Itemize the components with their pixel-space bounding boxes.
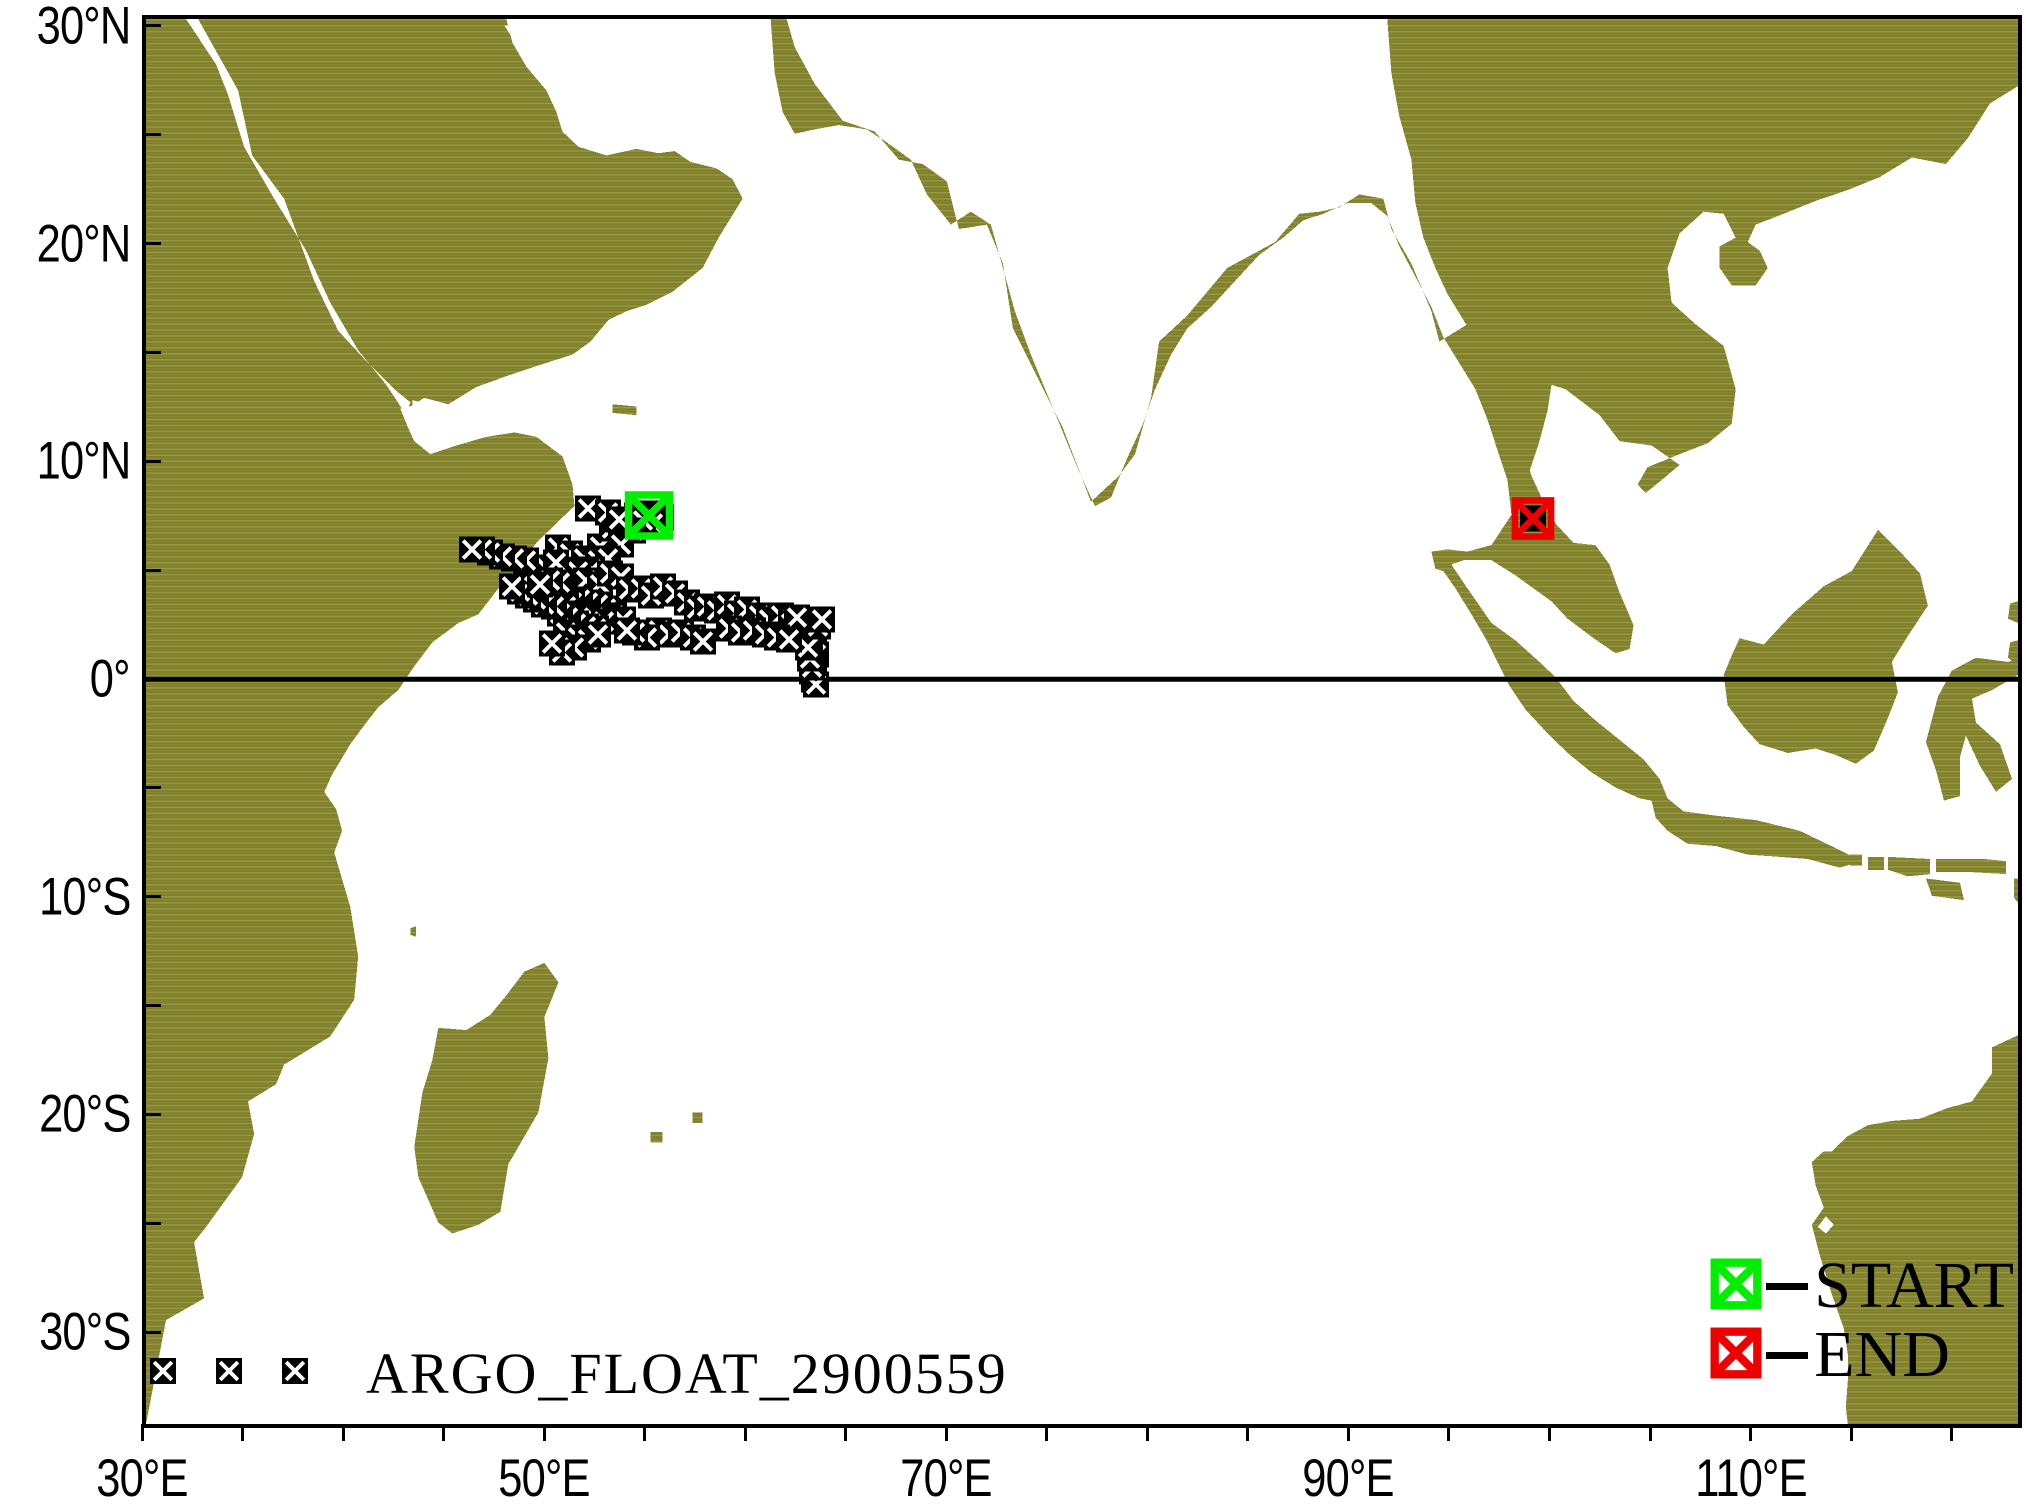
- y-axis-tick-label: 20°N: [36, 213, 130, 274]
- y-axis-tick-label: 10°S: [39, 866, 130, 927]
- argo-float-position-marker: [690, 628, 716, 659]
- x-axis-tick-label: 110°E: [1695, 1448, 1807, 1509]
- map-plot-area: [142, 15, 2022, 1428]
- x-axis-tick: [1749, 1424, 1752, 1441]
- x-axis-tick-label: 90°E: [1303, 1448, 1394, 1509]
- x-axis-tick: [844, 1424, 847, 1441]
- y-axis-tick-label: 0°: [90, 649, 130, 710]
- argo-float-position-marker: [776, 626, 802, 657]
- x-axis-tick: [1246, 1424, 1249, 1441]
- x-axis-tick: [1045, 1424, 1048, 1441]
- argo-float-position-marker: [809, 607, 835, 638]
- y-axis-tick: [144, 133, 161, 136]
- end-marker-icon: [1710, 1327, 1762, 1384]
- x-axis-tick: [141, 1424, 144, 1441]
- x-axis-tick: [1850, 1424, 1853, 1441]
- x-axis-tick-label: 50°E: [498, 1448, 589, 1509]
- y-axis-tick: [144, 460, 161, 463]
- y-axis-tick: [144, 24, 161, 27]
- legend-start-label: START: [1814, 1255, 2014, 1318]
- y-axis-tick: [144, 1113, 161, 1116]
- x-axis-tick-label: 70°E: [901, 1448, 992, 1509]
- legend-end-label: END: [1814, 1324, 1950, 1387]
- argo-float-position-marker: [539, 631, 565, 662]
- legend-dash: [1766, 1283, 1808, 1290]
- legend-dash: [1766, 1352, 1808, 1359]
- y-axis-tick: [144, 242, 161, 245]
- x-axis-tick: [1649, 1424, 1652, 1441]
- float-legend: ARGO_FLOAT_2900559: [150, 1340, 1008, 1407]
- y-axis-tick-label: 10°N: [36, 431, 130, 492]
- legend-start-row: START: [1710, 1255, 2014, 1318]
- y-axis-tick: [144, 1004, 161, 1007]
- x-axis-tick: [342, 1424, 345, 1441]
- float-legend-label: ARGO_FLOAT_2900559: [366, 1340, 1008, 1407]
- float-legend-symbol: [216, 1358, 242, 1389]
- start-position-marker: [624, 490, 674, 545]
- x-axis-tick: [1950, 1424, 1953, 1441]
- start-end-legend: START END: [1710, 1255, 2014, 1386]
- legend-end-row: END: [1710, 1324, 1950, 1387]
- y-axis-tick: [144, 786, 161, 789]
- float-legend-symbol: [150, 1358, 176, 1389]
- y-axis-tick: [144, 678, 161, 681]
- argo-float-position-marker: [459, 537, 485, 568]
- x-axis-tick: [1447, 1424, 1450, 1441]
- float-legend-symbol: [282, 1358, 308, 1389]
- x-axis-tick: [744, 1424, 747, 1441]
- y-axis-tick: [144, 895, 161, 898]
- y-axis-tick-label: 30°S: [39, 1302, 130, 1363]
- x-axis-tick: [543, 1424, 546, 1441]
- float-legend-symbols: [150, 1358, 348, 1389]
- argo-float-position-marker: [585, 622, 611, 653]
- x-axis-tick: [442, 1424, 445, 1441]
- argo-float-position-marker: [614, 617, 640, 648]
- x-axis-tick: [1347, 1424, 1350, 1441]
- y-axis-tick: [144, 1222, 161, 1225]
- x-axis-tick: [945, 1424, 948, 1441]
- y-axis-tick-label: 30°N: [36, 0, 130, 56]
- x-axis-tick-label: 30°E: [96, 1448, 187, 1509]
- y-axis-tick: [144, 351, 161, 354]
- argo-float-position-marker: [527, 572, 553, 603]
- argo-float-trajectory-map: 30°E50°E70°E90°E110°E 30°N20°N10°N0°10°S…: [0, 0, 2026, 1494]
- start-marker-icon: [1710, 1258, 1762, 1315]
- y-axis-tick: [144, 569, 161, 572]
- x-axis-tick: [643, 1424, 646, 1441]
- x-axis-tick: [1146, 1424, 1149, 1441]
- y-axis-tick: [144, 1331, 161, 1334]
- y-axis-tick-label: 20°S: [39, 1084, 130, 1145]
- end-position-marker: [1511, 496, 1555, 545]
- x-axis-tick: [1548, 1424, 1551, 1441]
- x-axis-tick: [241, 1424, 244, 1441]
- map-canvas: [146, 19, 2018, 1424]
